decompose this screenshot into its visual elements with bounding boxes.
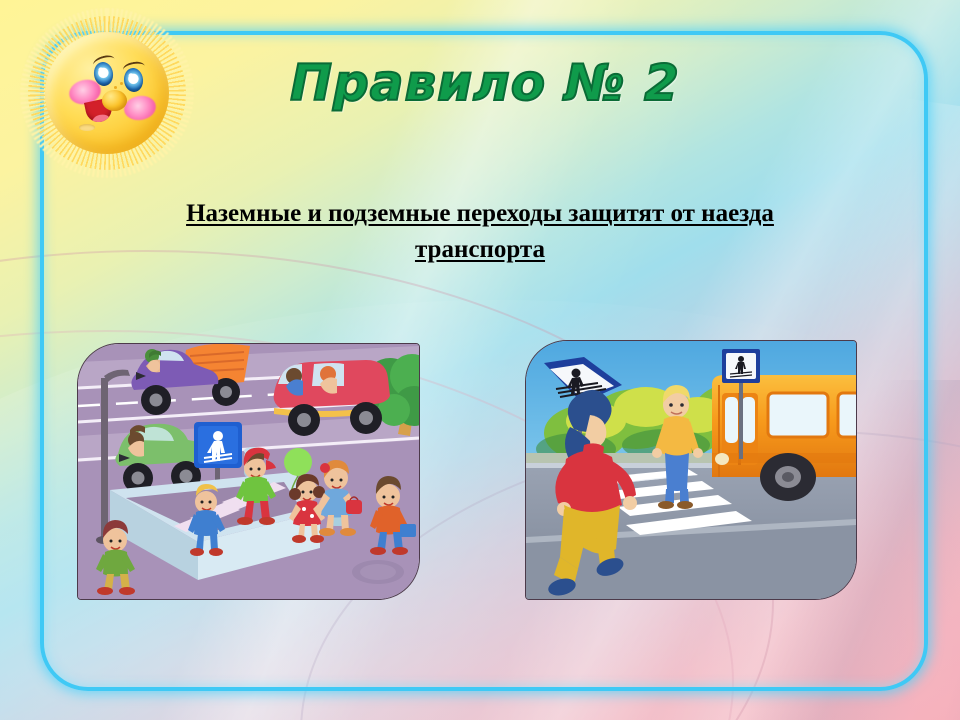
sun-nose (102, 90, 127, 111)
sun-chin-highlight (79, 124, 95, 131)
underground-crossing-image (77, 343, 420, 600)
sun-freckle (120, 82, 123, 85)
sun-icon (14, 4, 200, 182)
slide-canvas: Правило № 2 Наземные и подземные переход… (0, 0, 960, 720)
page-subtitle: Наземные и подземные переходы защитят от… (150, 196, 810, 269)
sun-freckle (114, 86, 117, 89)
zebra-crossing-image (525, 340, 857, 600)
page-title: Правило № 2 (250, 54, 720, 112)
